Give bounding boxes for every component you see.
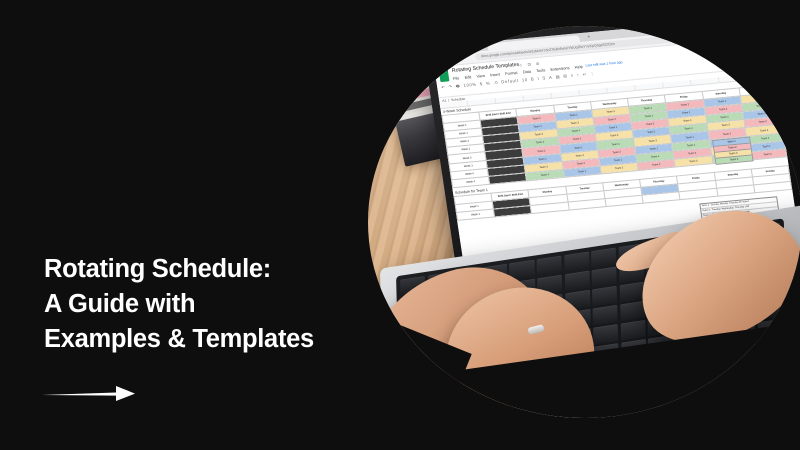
- font-select[interactable]: Default: [501, 78, 519, 85]
- new-tab-button[interactable]: +: [587, 35, 591, 40]
- bookmark-icon[interactable]: [708, 32, 715, 38]
- menu-file[interactable]: File: [453, 75, 460, 81]
- bold-icon[interactable]: B: [531, 76, 535, 81]
- back-icon[interactable]: [439, 58, 444, 62]
- keyboard-key[interactable]: [591, 247, 617, 268]
- hero-photo: + docs.google.com/spreadsheets/d/1sMzbYc…: [368, 26, 800, 418]
- last-edit-label[interactable]: Last edit was 1 hour ago: [585, 60, 622, 67]
- reload-icon[interactable]: [457, 56, 462, 60]
- headline-line-1: Rotating Schedule:: [44, 252, 374, 287]
- more-icon[interactable]: ⋮: [590, 71, 596, 76]
- keyboard-key[interactable]: [592, 286, 618, 307]
- menu-help[interactable]: Help: [574, 64, 583, 70]
- poster-canvas: Rotating Schedule: A Guide with Examples…: [0, 0, 800, 450]
- keyboard-key[interactable]: [564, 271, 590, 292]
- team-color-legend: Team 1Team 2Team 3Team 4: [712, 137, 754, 165]
- menu-edit[interactable]: Edit: [464, 74, 471, 80]
- page-title: Rotating Schedule: A Guide with Examples…: [44, 252, 374, 357]
- menu-data[interactable]: Data: [522, 69, 531, 75]
- fill-color-icon[interactable]: ▤: [555, 74, 560, 79]
- keyboard-key[interactable]: [593, 305, 619, 326]
- wrap-icon[interactable]: ↩: [582, 72, 587, 77]
- valign-icon[interactable]: ↕: [576, 72, 579, 77]
- extension-icon-2[interactable]: [724, 31, 731, 37]
- keyboard-key[interactable]: [620, 320, 646, 341]
- keyboard-key[interactable]: [619, 282, 645, 303]
- keyboard-key[interactable]: [564, 252, 590, 273]
- italic-icon[interactable]: I: [537, 76, 539, 81]
- redo-icon[interactable]: ↷: [448, 84, 453, 89]
- strikethrough-icon[interactable]: S: [542, 75, 546, 80]
- menu-insert[interactable]: Insert: [490, 72, 500, 78]
- align-icon[interactable]: ≡: [570, 73, 574, 78]
- print-icon[interactable]: 🖶: [455, 83, 460, 88]
- keyboard-key[interactable]: [537, 256, 563, 277]
- right-arrow-icon: [40, 376, 140, 410]
- menu-format[interactable]: Format: [505, 70, 518, 76]
- currency-icon[interactable]: $: [479, 81, 483, 86]
- extension-icon-3[interactable]: [732, 30, 739, 36]
- text-color-icon[interactable]: A: [549, 75, 553, 80]
- forward-icon[interactable]: [448, 57, 453, 61]
- keyboard-key[interactable]: [592, 267, 618, 288]
- undo-icon[interactable]: ↶: [441, 85, 446, 90]
- headline-line-2: A Guide with: [44, 287, 374, 322]
- share-button[interactable]: Share: [742, 49, 768, 62]
- menu-view[interactable]: View: [476, 73, 485, 79]
- percent-icon[interactable]: %: [486, 80, 491, 85]
- avatar[interactable]: [756, 28, 763, 34]
- cta-arrow[interactable]: [40, 376, 140, 410]
- zoom-label[interactable]: 100%: [463, 82, 477, 88]
- decimal-icon[interactable]: .0: [493, 80, 498, 85]
- font-size[interactable]: 10: [522, 77, 529, 82]
- extension-icon-4[interactable]: [740, 29, 747, 35]
- menu-tools[interactable]: Tools: [536, 67, 546, 73]
- extension-icon-1[interactable]: [716, 31, 723, 37]
- keyboard-key[interactable]: [593, 324, 619, 345]
- headline-line-3: Examples & Templates: [44, 322, 374, 357]
- borders-icon[interactable]: ⊞: [563, 73, 568, 78]
- extension-icon-5[interactable]: [748, 28, 755, 34]
- document-star-icons[interactable]: ☆ ⊡ ⊘: [518, 61, 541, 68]
- keyboard-key[interactable]: [620, 301, 646, 322]
- google-sheets-logo-icon: [439, 69, 450, 82]
- menu-extensions[interactable]: Extensions: [550, 65, 570, 72]
